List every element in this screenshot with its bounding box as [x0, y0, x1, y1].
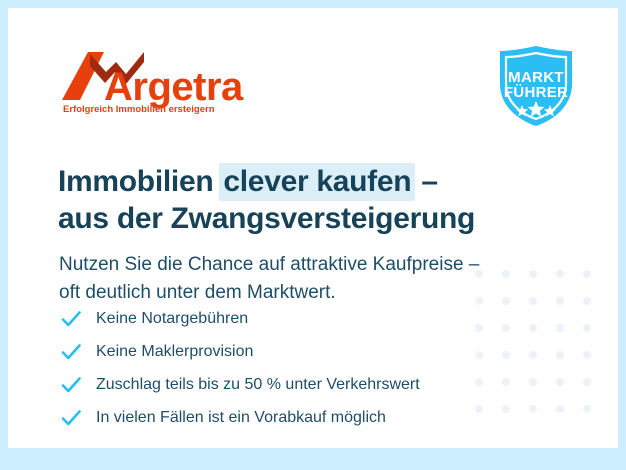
subheadline-line-2: oft deutlich unter dem Marktwert.	[59, 279, 579, 307]
headline-line-2: aus der Zwangsversteigerung	[58, 200, 588, 237]
subheadline-line-1: Nutzen Sie die Chance auf attraktive Kau…	[59, 251, 579, 279]
benefit-list: Keine Notargebühren Keine Maklerprovisio…	[60, 304, 580, 436]
headline: Immobilien clever kaufen – aus der Zwang…	[58, 163, 588, 237]
banner-canvas: Argetra Erfolgreich Immobilien ersteiger…	[8, 8, 618, 448]
check-icon	[60, 407, 82, 429]
dot	[583, 324, 591, 332]
headline-line-1: Immobilien clever kaufen –	[58, 163, 588, 200]
list-item-label: Zuschlag teils bis zu 50 % unter Verkehr…	[96, 374, 420, 396]
headline-text-after: –	[413, 165, 437, 198]
list-item: In vielen Fällen ist ein Vorabkauf mögli…	[60, 403, 580, 433]
badge-line2: FÜHRER	[504, 84, 568, 101]
dot	[583, 405, 591, 413]
check-icon	[60, 374, 82, 396]
list-item-label: Keine Notargebühren	[96, 308, 248, 330]
marktfuehrer-badge: MARKT FÜHRER	[492, 44, 580, 128]
dot	[583, 378, 591, 386]
promo-banner: Argetra Erfolgreich Immobilien ersteiger…	[0, 0, 626, 470]
logo-slash-icon	[62, 52, 104, 100]
logo-tagline: Erfolgreich Immobilien ersteigern	[63, 104, 215, 114]
headline-text-before: Immobilien	[58, 165, 221, 198]
dot	[583, 297, 591, 305]
logo-wordmark: Argetra	[104, 65, 244, 109]
subheadline: Nutzen Sie die Chance auf attraktive Kau…	[59, 251, 579, 307]
dot	[583, 351, 591, 359]
headline-highlight: clever kaufen	[219, 163, 415, 201]
list-item: Keine Maklerprovision	[60, 337, 580, 367]
check-icon	[60, 308, 82, 330]
list-item: Keine Notargebühren	[60, 304, 580, 334]
list-item-label: Keine Maklerprovision	[96, 341, 253, 363]
list-item: Zuschlag teils bis zu 50 % unter Verkehr…	[60, 370, 580, 400]
dot	[583, 270, 591, 278]
argetra-logo[interactable]: Argetra Erfolgreich Immobilien ersteiger…	[60, 50, 260, 114]
check-icon	[60, 341, 82, 363]
list-item-label: In vielen Fällen ist ein Vorabkauf mögli…	[96, 407, 386, 429]
